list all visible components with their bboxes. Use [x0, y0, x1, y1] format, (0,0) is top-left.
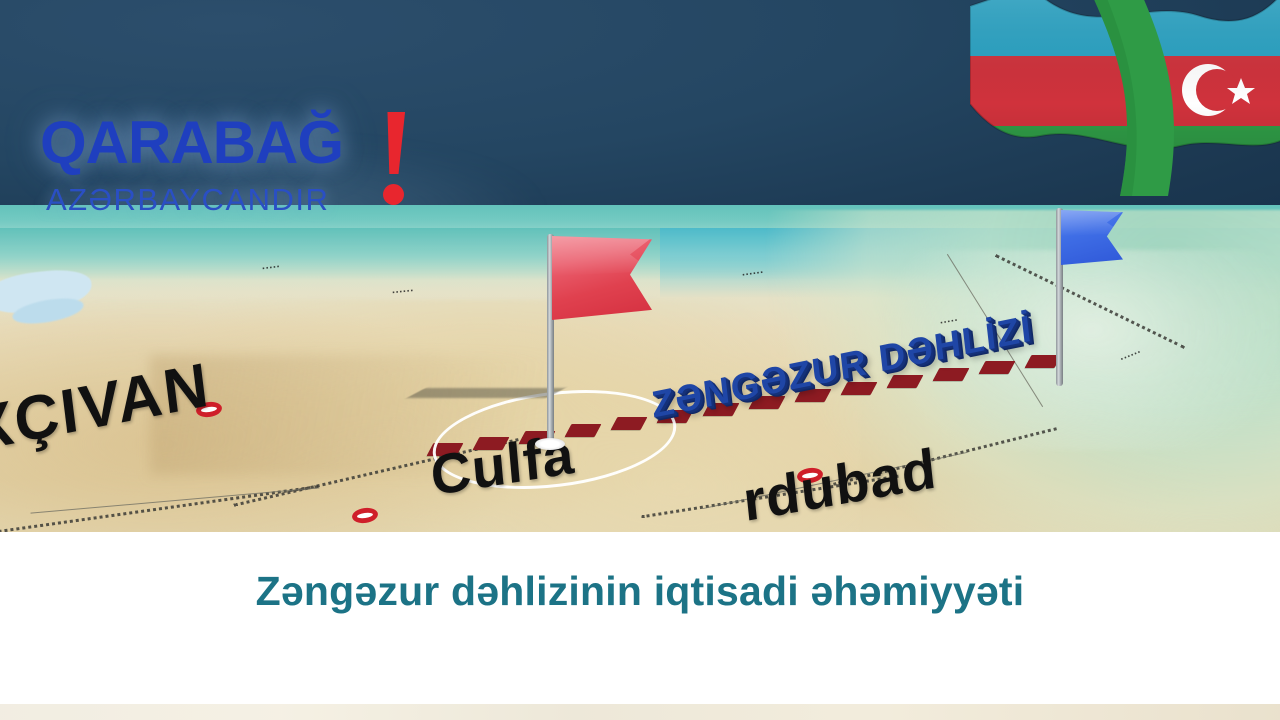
blue-flag-highlight — [1061, 210, 1123, 236]
logo-main-text: QARABAĞ — [40, 108, 343, 177]
red-flag-base — [535, 438, 565, 450]
red-flag-shadow — [407, 388, 566, 398]
map-toponym: ······ — [391, 285, 414, 299]
blue-flag-cloth — [1061, 210, 1123, 265]
exclamation-dot-icon — [383, 184, 404, 205]
exclamation-icon — [383, 112, 405, 174]
caption-title: Zəngəzur dəhlizinin iqtisadi əhəmiyyəti — [0, 568, 1280, 615]
logo-sub-text: AZƏRBAYCANDIR — [46, 182, 329, 218]
video-frame: ZƏNGƏZUR DƏHLİZİ XÇIVAN Culfa rdubad ···… — [0, 0, 1280, 720]
blue-flag-marker — [1048, 204, 1128, 394]
bottom-strip — [0, 704, 1280, 720]
red-flag-highlight — [552, 236, 652, 276]
map-illustration: ZƏNGƏZUR DƏHLİZİ XÇIVAN Culfa rdubad ···… — [0, 0, 1280, 532]
qarabag-logo: QARABAĞ AZƏRBAYCANDIR — [36, 108, 416, 238]
red-flag-cloth — [552, 236, 652, 320]
caption-bar: Zəngəzur dəhlizinin iqtisadi əhəmiyyəti — [0, 532, 1280, 720]
red-flag-marker — [536, 228, 656, 458]
azerbaijan-flag-icon — [970, 0, 1280, 196]
map-toponym: ····· — [261, 261, 281, 275]
